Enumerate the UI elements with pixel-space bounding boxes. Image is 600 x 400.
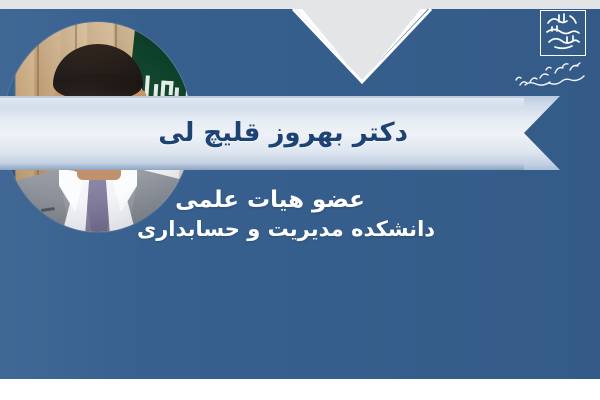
footer-area <box>0 379 600 400</box>
name-ribbon: دکتر بهروز قلیچ لی <box>0 96 560 170</box>
university-logo-mark-icon <box>540 10 586 56</box>
person-titles: عضو هیات علمی دانشکده مدیریت و حسابداری <box>0 186 580 243</box>
university-logo <box>510 8 588 96</box>
public-relations-script-icon <box>510 56 588 92</box>
hair <box>53 44 143 100</box>
person-department: دانشکده مدیریت و حسابداری <box>0 216 580 243</box>
profile-card: دکتر بهروز قلیچ لی عضو هیات علمی دانشکده… <box>0 0 600 400</box>
person-name: دکتر بهروز قلیچ لی <box>0 96 500 170</box>
person-role: عضو هیات علمی <box>0 186 580 216</box>
